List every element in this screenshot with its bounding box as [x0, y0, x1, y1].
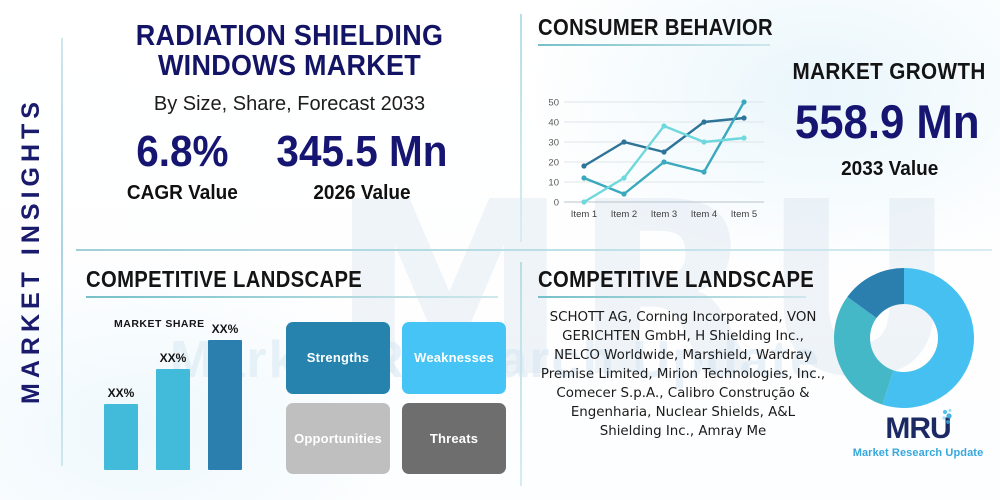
kpi-2026-label: 2026 Value: [274, 182, 451, 205]
kpi-row: 6.8% CAGR Value 345.5 Mn 2026 Value: [62, 130, 517, 205]
logo-mark: MRU: [885, 414, 950, 444]
market-growth-value-label: 2033 Value: [841, 158, 938, 181]
svg-text:10: 10: [548, 178, 559, 189]
kpi-cagr-label: CAGR Value: [127, 182, 238, 205]
swot-grid: StrengthsWeaknessesOpportunitiesThreats: [286, 322, 506, 474]
svg-text:40: 40: [548, 118, 559, 129]
page-subtitle: By Size, Share, Forecast 2033: [62, 93, 517, 116]
bar-value-label: XX%: [108, 386, 135, 400]
kpi-2026: 345.5 Mn 2026 Value: [269, 130, 455, 205]
svg-text:30: 30: [548, 138, 559, 149]
donut-segment: [834, 297, 893, 405]
kpi-cagr-value: 6.8%: [129, 130, 236, 174]
competitive-landscape-left-panel: COMPETITIVE LANDSCAPE MARKET SHARE XX%XX…: [86, 266, 516, 486]
swot-box-label: Threats: [430, 431, 478, 446]
swot-box-label: Weaknesses: [414, 350, 494, 365]
horizontal-divider: [76, 249, 992, 251]
logo-droplet-icon: [939, 408, 955, 428]
title-panel: RADIATION SHIELDING WINDOWS MARKET By Si…: [62, 8, 517, 246]
bar-value-label: XX%: [212, 322, 239, 336]
kpi-cagr: 6.8% CAGR Value: [124, 130, 241, 205]
svg-text:20: 20: [548, 158, 559, 169]
competitive-landscape-right-panel: COMPETITIVE LANDSCAPE SCHOTT AG, Corning…: [538, 266, 990, 490]
consumer-behavior-heading: CONSUMER BEHAVIOR: [538, 14, 936, 41]
vertical-divider-bottom: [520, 262, 522, 486]
left-rail: MARKET INSIGHTS: [0, 0, 62, 500]
competitive-right-rule: [538, 296, 806, 298]
swot-box-label: Strengths: [307, 350, 369, 365]
line-chart: 01020304050 Item 1Item 2Item 3Item 4Item…: [538, 96, 770, 224]
competitive-left-rule: [86, 296, 498, 298]
competitive-left-heading: COMPETITIVE LANDSCAPE: [86, 266, 464, 293]
svg-text:Item 4: Item 4: [691, 209, 717, 220]
swot-box-threats[interactable]: Threats: [402, 403, 506, 475]
vertical-divider-top: [520, 14, 522, 242]
rail-label: MARKET INSIGHTS: [17, 97, 46, 404]
market-share-bar-chart: XX%XX%XX%: [104, 330, 284, 470]
swot-box-opportunities[interactable]: Opportunities: [286, 403, 390, 475]
bar-rect: [156, 369, 190, 470]
market-share-label: MARKET SHARE: [114, 318, 205, 330]
svg-text:50: 50: [548, 98, 559, 109]
bar-rect: [104, 404, 138, 470]
donut-chart: [828, 262, 980, 414]
market-growth-value: 558.9 Mn: [795, 98, 980, 145]
infographic-canvas: MRU Market Research Update MARKET INSIGH…: [0, 0, 1000, 500]
consumer-behavior-panel: CONSUMER BEHAVIOR MARKET GROWTH 558.9 Mn…: [538, 14, 990, 244]
svg-text:0: 0: [554, 198, 559, 209]
kpi-2026-value: 345.5 Mn: [276, 130, 447, 174]
svg-text:Item 5: Item 5: [731, 209, 757, 220]
swot-box-weaknesses[interactable]: Weaknesses: [402, 322, 506, 394]
swot-box-strengths[interactable]: Strengths: [286, 322, 390, 394]
bar-value-label: XX%: [160, 351, 187, 365]
bar-rect: [208, 340, 242, 470]
svg-text:Item 3: Item 3: [651, 209, 677, 220]
market-growth-heading: MARKET GROWTH: [793, 58, 986, 85]
page-title: RADIATION SHIELDING WINDOWS MARKET: [78, 8, 501, 81]
consumer-behavior-rule: [538, 44, 770, 46]
logo: MRU Market Research Update: [838, 414, 998, 459]
svg-text:Item 2: Item 2: [611, 209, 637, 220]
svg-text:Item 1: Item 1: [571, 209, 597, 220]
swot-box-label: Opportunities: [294, 431, 382, 446]
company-list: SCHOTT AG, Corning Incorporated, VON GER…: [538, 308, 828, 441]
logo-subtitle: Market Research Update: [838, 447, 998, 459]
